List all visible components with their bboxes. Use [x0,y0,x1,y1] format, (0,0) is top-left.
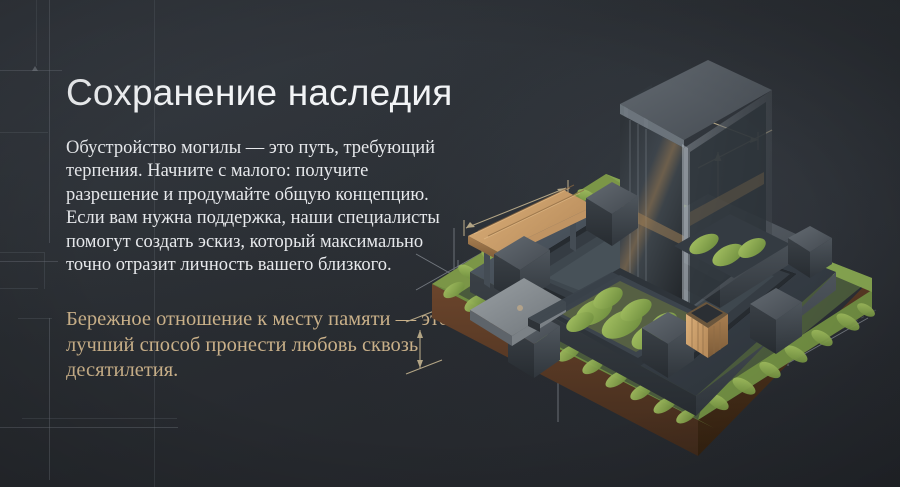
monument-illustration [398,22,900,472]
presentation-slide: Сохранение наследия Обустройство могилы … [0,0,900,487]
